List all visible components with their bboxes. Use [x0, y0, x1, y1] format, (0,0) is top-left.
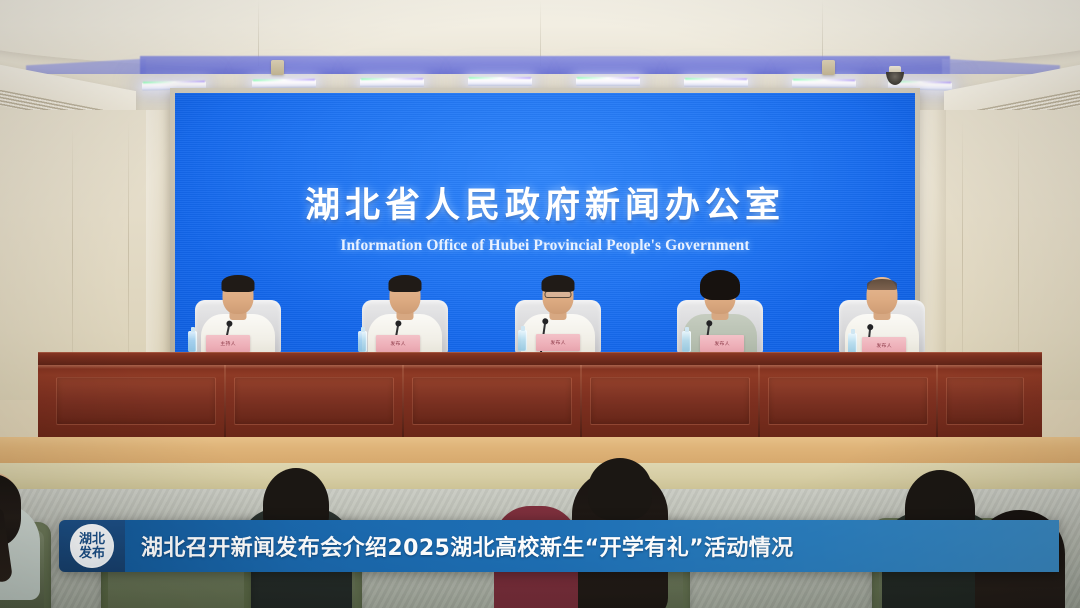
- panelist-hair: [700, 270, 740, 300]
- nameplate-text: 发布人: [714, 340, 730, 347]
- water-bottle: [358, 331, 367, 352]
- ceiling-light-bar: [360, 79, 424, 87]
- nameplate: 主持人: [206, 335, 250, 352]
- ceiling-light-bar: [576, 78, 640, 86]
- audience-head: [588, 458, 652, 520]
- screen-text-block: 湖北省人民政府新闻办公室 Information Office of Hubei…: [175, 177, 915, 255]
- channel-logo-line1: 湖北: [79, 533, 105, 546]
- broadcast-frame: 湖北省人民政府新闻办公室 Information Office of Hubei…: [0, 0, 1080, 608]
- headline-bar: 湖北召开新闻发布会介绍2025湖北高校新生“开学有礼”活动情况: [125, 520, 1059, 572]
- conference-room: 湖北省人民政府新闻办公室 Information Office of Hubei…: [0, 0, 1080, 608]
- panelist-hair: [389, 275, 422, 292]
- stage-edge: [0, 437, 1080, 463]
- screen-title-chinese: 湖北省人民政府新闻办公室: [175, 177, 915, 228]
- nameplate-text: 发布人: [390, 340, 406, 347]
- ceiling-light-bar: [468, 78, 532, 86]
- nameplate: 发布人: [536, 334, 580, 351]
- rostrum-lip: [38, 365, 1042, 369]
- rostrum-front: [38, 365, 1042, 437]
- rostrum-top: [38, 352, 1042, 365]
- nameplate: 发布人: [700, 335, 744, 352]
- lower-third-banner: 湖北 发布 湖北召开新闻发布会介绍2025湖北高校新生“开学有礼”活动情况: [59, 520, 1059, 572]
- panelist-hair: [222, 275, 255, 292]
- water-bottle: [188, 331, 197, 352]
- nameplate-text: 发布人: [876, 342, 892, 349]
- ceiling-speaker: [271, 60, 284, 75]
- panelist-hair: [867, 279, 897, 290]
- channel-logo: 湖北 发布: [59, 520, 125, 572]
- ceiling-speaker: [822, 60, 835, 75]
- channel-logo-emblem: 湖北 发布: [70, 524, 114, 568]
- headline-text: 湖北召开新闻发布会介绍2025湖北高校新生“开学有礼”活动情况: [141, 530, 794, 562]
- nameplate-text: 发布人: [550, 339, 566, 346]
- ceiling-light-bar: [684, 79, 748, 87]
- panelist-hair: [542, 275, 575, 292]
- dome-camera-icon: [193, 66, 211, 86]
- channel-logo-line2: 发布: [79, 547, 105, 560]
- dome-camera-icon: [886, 66, 904, 86]
- water-bottle: [518, 330, 527, 351]
- nameplate-text: 主持人: [220, 340, 236, 347]
- screen-title-english: Information Office of Hubei Provincial P…: [175, 237, 915, 255]
- water-bottle: [848, 333, 857, 354]
- panelist-glasses: [545, 291, 572, 298]
- water-bottle: [682, 331, 691, 352]
- nameplate: 发布人: [376, 335, 420, 352]
